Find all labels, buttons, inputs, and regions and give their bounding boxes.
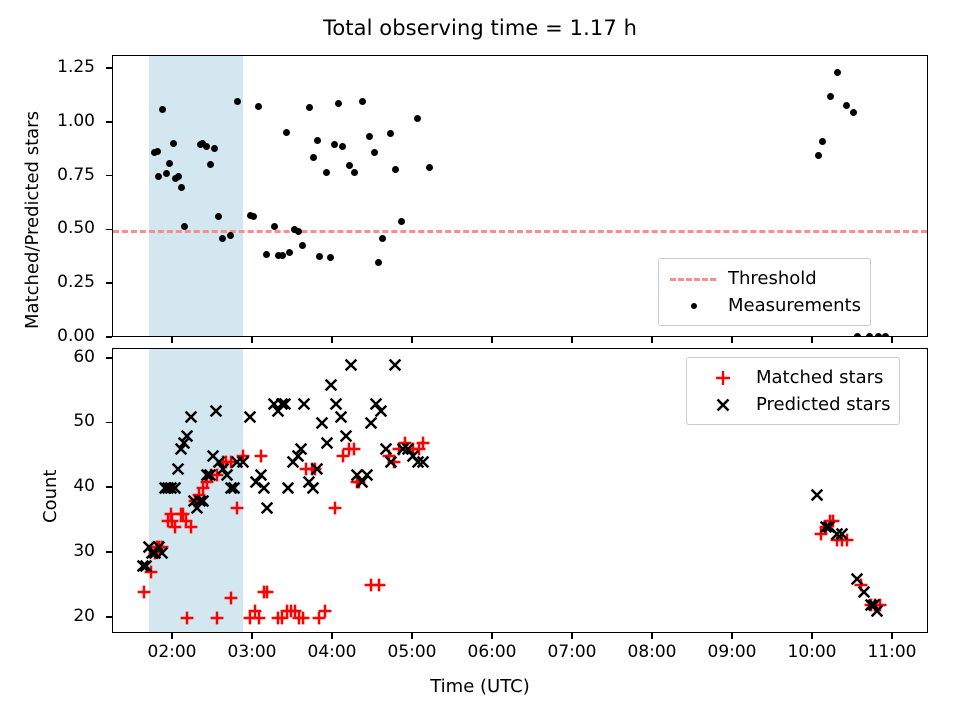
data-point bbox=[426, 164, 433, 171]
y-tick-label: 30 bbox=[5, 541, 95, 561]
dot-marker-icon bbox=[668, 295, 720, 317]
data-point bbox=[255, 103, 262, 110]
threshold-line bbox=[113, 230, 927, 233]
count-panel-legend: Matched stars Predicted stars bbox=[686, 357, 900, 425]
plus-marker-icon bbox=[696, 367, 748, 389]
y-tick-label: 60 bbox=[5, 347, 95, 367]
x-tick bbox=[731, 633, 733, 639]
data-point bbox=[339, 143, 346, 150]
x-tick bbox=[651, 633, 653, 639]
data-point bbox=[843, 102, 850, 109]
legend-item-matched-stars[interactable]: Matched stars bbox=[696, 364, 890, 391]
y-tick-label: 0.00 bbox=[5, 326, 95, 346]
x-tick bbox=[651, 337, 653, 343]
legend-item-predicted-stars[interactable]: Predicted stars bbox=[696, 391, 890, 418]
data-point bbox=[854, 333, 861, 337]
x-tick bbox=[811, 633, 813, 639]
data-point bbox=[154, 148, 161, 155]
y-tick bbox=[106, 616, 112, 618]
data-point bbox=[398, 218, 405, 225]
data-point bbox=[392, 166, 399, 173]
x-tick bbox=[891, 633, 893, 639]
data-point bbox=[170, 140, 177, 147]
data-point bbox=[866, 333, 873, 337]
y-tick-label: 0.75 bbox=[5, 165, 95, 185]
cross-marker-icon bbox=[696, 394, 748, 416]
data-point bbox=[306, 104, 313, 111]
data-point bbox=[827, 93, 834, 100]
count-axis-label: Count bbox=[40, 469, 61, 522]
x-tick bbox=[331, 337, 333, 343]
data-point bbox=[175, 173, 182, 180]
y-tick bbox=[106, 282, 112, 284]
data-point bbox=[314, 137, 321, 144]
x-tick bbox=[811, 337, 813, 343]
y-tick-label: 1.00 bbox=[5, 111, 95, 131]
x-tick bbox=[331, 633, 333, 639]
x-tick bbox=[411, 337, 413, 343]
data-point bbox=[414, 115, 421, 122]
data-point bbox=[310, 154, 317, 161]
data-point bbox=[250, 213, 257, 220]
data-point bbox=[234, 98, 241, 105]
y-tick bbox=[106, 121, 112, 123]
dashed-line-icon bbox=[668, 268, 720, 290]
data-point bbox=[819, 138, 826, 145]
x-tick-label: 10:00 bbox=[767, 642, 857, 662]
data-point bbox=[366, 133, 373, 140]
y-tick bbox=[106, 422, 112, 424]
data-point bbox=[331, 141, 338, 148]
data-point bbox=[159, 106, 166, 113]
x-tick-label: 11:00 bbox=[847, 642, 937, 662]
data-point bbox=[271, 223, 278, 230]
x-tick bbox=[251, 633, 253, 639]
y-tick bbox=[106, 229, 112, 231]
y-tick bbox=[106, 67, 112, 69]
x-tick bbox=[171, 633, 173, 639]
x-tick bbox=[251, 337, 253, 343]
data-point bbox=[327, 254, 334, 261]
x-tick-label: 02:00 bbox=[127, 642, 217, 662]
x-tick-label: 07:00 bbox=[527, 642, 617, 662]
data-point bbox=[299, 242, 306, 249]
y-tick-label: 20 bbox=[5, 606, 95, 626]
y-tick bbox=[106, 486, 112, 488]
data-point bbox=[387, 130, 394, 137]
ratio-axis-label: Matched/Predicted stars bbox=[22, 111, 43, 329]
y-tick bbox=[106, 357, 112, 359]
data-point bbox=[379, 235, 386, 242]
data-point bbox=[351, 169, 358, 176]
data-point bbox=[316, 253, 323, 260]
data-point bbox=[346, 162, 353, 169]
data-point bbox=[178, 184, 185, 191]
y-tick bbox=[106, 175, 112, 177]
data-point bbox=[166, 160, 173, 167]
data-point bbox=[850, 109, 857, 116]
legend-label-measurements: Measurements bbox=[720, 295, 861, 316]
y-tick-label: 0.25 bbox=[5, 272, 95, 292]
time-axis-label: Time (UTC) bbox=[0, 676, 960, 697]
legend-label-predicted-stars: Predicted stars bbox=[748, 394, 890, 415]
chart-title: Total observing time = 1.17 h bbox=[0, 16, 960, 40]
x-tick bbox=[891, 337, 893, 343]
data-point bbox=[359, 98, 366, 105]
legend-item-threshold[interactable]: Threshold bbox=[668, 265, 861, 292]
x-tick bbox=[411, 633, 413, 639]
x-tick bbox=[571, 633, 573, 639]
x-tick-label: 04:00 bbox=[287, 642, 377, 662]
data-point bbox=[286, 249, 293, 256]
x-tick bbox=[731, 337, 733, 343]
data-point bbox=[375, 259, 382, 266]
shaded-interval-region bbox=[149, 56, 243, 336]
data-point bbox=[371, 149, 378, 156]
data-point bbox=[283, 129, 290, 136]
data-point bbox=[882, 333, 889, 337]
x-tick bbox=[171, 337, 173, 343]
x-tick bbox=[571, 337, 573, 343]
y-tick bbox=[106, 551, 112, 553]
y-tick-label: 50 bbox=[5, 411, 95, 431]
x-tick-label: 09:00 bbox=[687, 642, 777, 662]
legend-item-measurements[interactable]: Measurements bbox=[668, 292, 861, 319]
data-point bbox=[263, 251, 270, 258]
y-tick-label: 0.50 bbox=[5, 218, 95, 238]
x-tick-label: 05:00 bbox=[367, 642, 457, 662]
x-tick bbox=[491, 337, 493, 343]
legend-label-threshold: Threshold bbox=[720, 268, 817, 289]
x-tick-label: 06:00 bbox=[447, 642, 537, 662]
data-point bbox=[181, 223, 188, 230]
data-point bbox=[335, 100, 342, 107]
data-point bbox=[815, 152, 822, 159]
y-tick bbox=[106, 336, 112, 338]
data-point bbox=[834, 69, 841, 76]
ratio-panel-legend: Threshold Measurements bbox=[658, 258, 871, 326]
data-point bbox=[323, 169, 330, 176]
data-point bbox=[295, 228, 302, 235]
legend-label-matched-stars: Matched stars bbox=[748, 367, 883, 388]
x-tick bbox=[491, 633, 493, 639]
data-point bbox=[163, 170, 170, 177]
data-point bbox=[215, 213, 222, 220]
x-tick-label: 08:00 bbox=[607, 642, 697, 662]
y-tick-label: 1.25 bbox=[5, 57, 95, 77]
x-tick-label: 03:00 bbox=[207, 642, 297, 662]
figure-canvas: Total observing time = 1.17 h 0.000.250.… bbox=[0, 0, 960, 720]
